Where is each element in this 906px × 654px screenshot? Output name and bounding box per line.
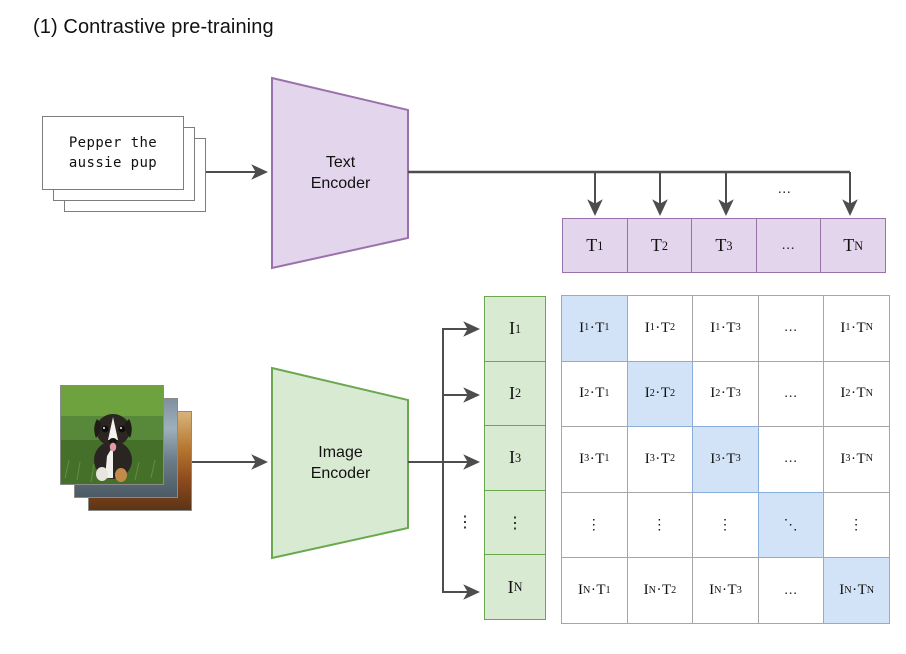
similarity-cell-iN-t2: IN·T2 [627, 557, 694, 624]
image-embedding-cell-1: I1 [484, 296, 546, 362]
similarity-cell-ellipsis-r3-c4: ... [758, 426, 825, 493]
image-embedding-cell-N: IN [484, 554, 546, 620]
image-card-front [60, 385, 164, 485]
image-embedding-cell-ellipsis: ⋮ [484, 490, 546, 556]
similarity-cell-iN-tN: IN·TN [823, 557, 890, 624]
image-embedding-cell-2: I2 [484, 361, 546, 427]
similarity-cell-i1-t2: I1·T2 [627, 295, 694, 362]
similarity-cell-ellipsis-r4-c1: ⋮ [561, 492, 628, 559]
text-encoder-line-1: Text [326, 152, 355, 173]
similarity-cell-i1-t1: I1·T1 [561, 295, 628, 362]
page-title: (1) Contrastive pre-training [33, 16, 274, 39]
text-embedding-cell-2: T2 [627, 218, 693, 273]
image-encoder-output-bus [408, 329, 478, 592]
similarity-cell-iN-t3: IN·T3 [692, 557, 759, 624]
image-sample-stack[interactable] [60, 385, 196, 515]
image-encoder-line-2: Encoder [311, 463, 371, 484]
text-card-line-2: aussie pup [69, 153, 157, 173]
text-embedding-cell-N: TN [820, 218, 886, 273]
diagram-canvas: (1) Contrastive pre-training [0, 0, 906, 654]
similarity-cell-i2-t2: I2·T2 [627, 361, 694, 428]
similarity-cell-ellipsis-r4-c5: ⋮ [823, 492, 890, 559]
text-encoder-label: Text Encoder [272, 148, 409, 198]
text-embedding-cell-3: T3 [691, 218, 757, 273]
image-branch-ellipsis: ⋮ [457, 512, 473, 532]
similarity-cell-ellipsis-r2-c4: ... [758, 361, 825, 428]
similarity-cell-i2-tN: I2·TN [823, 361, 890, 428]
text-encoder-line-2: Encoder [311, 173, 371, 194]
image-embedding-cell-3: I3 [484, 425, 546, 491]
similarity-cell-iN-t1: IN·T1 [561, 557, 628, 624]
puppy-photo [61, 386, 163, 484]
text-embedding-row: T1T2T3...TN [562, 218, 886, 273]
similarity-matrix: I1·T1I1·T2I1·T3...I1·TNI2·T1I2·T2I2·T3..… [562, 296, 890, 624]
text-card-line-1: Pepper the [69, 133, 157, 153]
similarity-cell-i3-tN: I3·TN [823, 426, 890, 493]
similarity-cell-i1-tN: I1·TN [823, 295, 890, 362]
similarity-cell-ellipsis-r5-c4: ... [758, 557, 825, 624]
text-sample-stack[interactable]: Pepper the aussie pup [42, 116, 222, 236]
image-encoder-line-1: Image [318, 442, 362, 463]
similarity-cell-ellipsis-r4-c4: ⋱ [758, 492, 825, 559]
similarity-cell-i3-t1: I3·T1 [561, 426, 628, 493]
text-embedding-cell-1: T1 [562, 218, 628, 273]
text-card-content: Pepper the aussie pup [42, 116, 184, 190]
similarity-cell-i2-t3: I2·T3 [692, 361, 759, 428]
text-embedding-cell-ellipsis: ... [756, 218, 822, 273]
similarity-cell-ellipsis-r1-c4: ... [758, 295, 825, 362]
similarity-cell-i3-t3: I3·T3 [692, 426, 759, 493]
text-bus-ellipsis: ... [778, 182, 792, 198]
similarity-cell-i2-t1: I2·T1 [561, 361, 628, 428]
image-embedding-column: I1I2I3⋮IN [484, 296, 546, 620]
image-encoder-label: Image Encoder [272, 438, 409, 488]
similarity-cell-ellipsis-r4-c2: ⋮ [627, 492, 694, 559]
similarity-cell-ellipsis-r4-c3: ⋮ [692, 492, 759, 559]
similarity-cell-i3-t2: I3·T2 [627, 426, 694, 493]
similarity-cell-i1-t3: I1·T3 [692, 295, 759, 362]
